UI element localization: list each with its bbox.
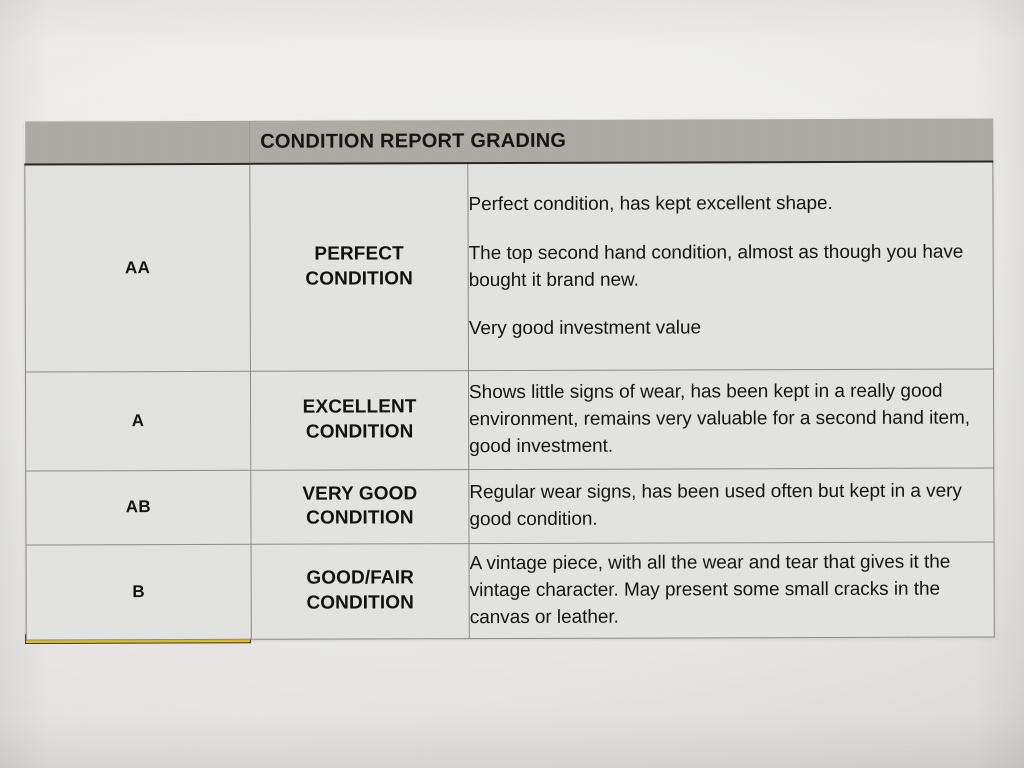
table-row: AB VERY GOOD CONDITION Regular wear sign… <box>26 467 994 544</box>
grade-code: A <box>26 410 250 431</box>
grade-code: AB <box>26 497 250 518</box>
condition-label-line-1: VERY GOOD <box>251 482 468 507</box>
condition-label-line-1: GOOD/FAIR <box>252 566 469 591</box>
condition-label-line-1: PERFECT <box>251 243 468 268</box>
page-title: CONDITION REPORT GRADING <box>250 118 993 162</box>
condition-label-line-2: CONDITION <box>251 506 468 531</box>
grade-cell-a: A <box>25 371 250 471</box>
header-title-cell: CONDITION REPORT GRADING <box>250 118 993 163</box>
description-paragraph: A vintage piece, with all the wear and t… <box>470 548 994 631</box>
description-cell-ab: Regular wear signs, has been used often … <box>469 467 994 543</box>
description-paragraph: Perfect condition, has kept excellent sh… <box>468 190 992 219</box>
condition-label-cell-b: GOOD/FAIR CONDITION <box>251 543 469 639</box>
description-cell-aa: Perfect condition, has kept excellent sh… <box>468 161 994 370</box>
grade-code: B <box>27 581 251 602</box>
condition-label-line-2: CONDITION <box>251 420 468 445</box>
description-text: Perfect condition, has kept excellent sh… <box>468 190 992 342</box>
description-paragraph: Shows little signs of wear, has been kep… <box>469 377 993 460</box>
description-cell-b: A vintage piece, with all the wear and t… <box>469 541 994 638</box>
grade-code: AA <box>26 258 250 279</box>
description-text: A vintage piece, with all the wear and t… <box>470 548 994 631</box>
description-text: Shows little signs of wear, has been kep… <box>469 377 993 460</box>
condition-label-cell-a: EXCELLENT CONDITION <box>250 370 468 470</box>
description-text: Regular wear signs, has been used often … <box>469 477 993 533</box>
condition-label-line-2: CONDITION <box>252 591 469 616</box>
header-blank-cell <box>25 121 250 165</box>
grade-cell-ab: AB <box>26 470 251 545</box>
description-cell-a: Shows little signs of wear, has been kep… <box>468 368 993 469</box>
description-paragraph: The top second hand condition, almost as… <box>469 238 993 294</box>
table-row: A EXCELLENT CONDITION Shows little signs… <box>25 368 993 470</box>
condition-report-grading-table: CONDITION REPORT GRADING AA PERFECT COND… <box>24 118 995 640</box>
description-paragraph: Very good investment value <box>469 313 993 342</box>
grade-cell-aa: AA <box>25 164 251 372</box>
description-paragraph: Regular wear signs, has been used often … <box>469 477 993 533</box>
condition-label-line-1: EXCELLENT <box>251 395 468 420</box>
condition-label-line-2: CONDITION <box>251 267 468 292</box>
grade-cell-b: B <box>26 544 251 640</box>
table-row: B GOOD/FAIR CONDITION A vintage piece, w… <box>26 541 994 639</box>
table-row: AA PERFECT CONDITION Perfect condition, … <box>25 161 994 371</box>
condition-label-cell-ab: VERY GOOD CONDITION <box>251 469 469 544</box>
condition-label-cell-aa: PERFECT CONDITION <box>250 163 469 371</box>
table-header-row: CONDITION REPORT GRADING <box>25 118 993 164</box>
